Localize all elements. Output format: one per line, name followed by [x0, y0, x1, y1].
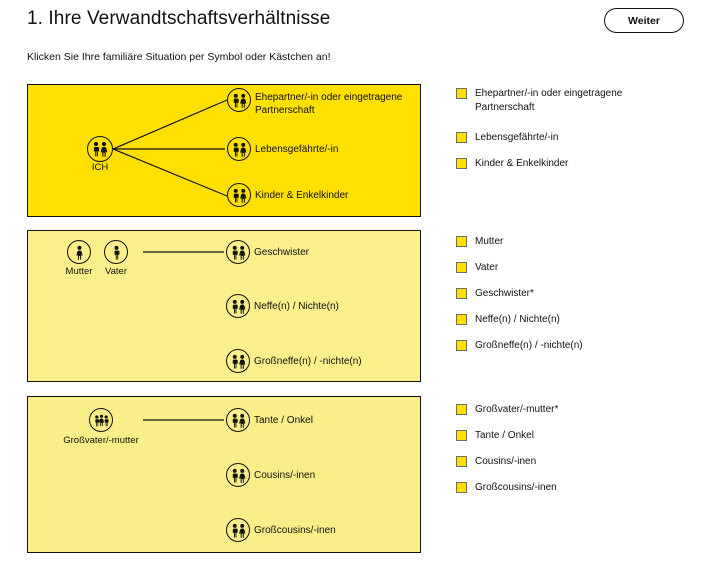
person-single-icon — [67, 240, 91, 264]
legend-item-grandparents[interactable]: Großvater/-mutter* — [456, 403, 558, 417]
checkbox-grandparents[interactable] — [456, 404, 467, 415]
legend-item-nephews[interactable]: Neffe(n) / Nichte(n) — [456, 313, 560, 327]
checkbox-grandcousins[interactable] — [456, 482, 467, 493]
person-pair-icon — [227, 183, 251, 207]
checkbox-mother[interactable] — [456, 236, 467, 247]
node-grandcousins-label: Großcousins/-inen — [254, 524, 336, 537]
checkbox-cousins[interactable] — [456, 456, 467, 467]
node-children[interactable] — [227, 183, 251, 207]
legend-item-spouse[interactable]: Ehepartner/-in oder eingetragene Partner… — [456, 87, 660, 115]
node-spouse[interactable] — [227, 88, 251, 112]
node-cousins-label: Cousins/-inen — [254, 469, 315, 482]
checkbox-aunt-uncle[interactable] — [456, 430, 467, 441]
person-pair-icon — [227, 88, 251, 112]
person-pair-icon — [226, 463, 250, 487]
legend-label-children: Kinder & Enkelkinder — [475, 157, 568, 171]
legend-item-aunt-uncle[interactable]: Tante / Onkel — [456, 429, 534, 443]
node-self-label: ICH — [92, 162, 108, 173]
legend-item-siblings[interactable]: Geschwister* — [456, 287, 534, 301]
node-grandparents[interactable]: Großvater/-mutter — [89, 408, 113, 432]
checkbox-partner[interactable] — [456, 132, 467, 143]
panel-grandparents — [27, 396, 421, 553]
person-pair-icon — [87, 136, 113, 162]
legend-label-aunt-uncle: Tante / Onkel — [475, 429, 534, 443]
checkbox-grandnephews[interactable] — [456, 340, 467, 351]
node-grandcousins[interactable] — [226, 518, 250, 542]
node-cousins[interactable] — [226, 463, 250, 487]
legend-label-siblings: Geschwister* — [475, 287, 534, 301]
legend-item-mother[interactable]: Mutter — [456, 235, 503, 249]
legend-label-mother: Mutter — [475, 235, 503, 249]
legend-item-children[interactable]: Kinder & Enkelkinder — [456, 157, 568, 171]
legend-label-partner: Lebensgefährte/-in — [475, 131, 558, 145]
node-children-label: Kinder & Enkelkinder — [255, 189, 348, 202]
legend-item-cousins[interactable]: Cousins/-inen — [456, 455, 536, 469]
next-button[interactable]: Weiter — [604, 8, 684, 33]
node-spouse-label: Ehepartner/-in oder eingetragene Partner… — [255, 91, 455, 117]
node-aunt-uncle[interactable] — [226, 408, 250, 432]
node-siblings[interactable] — [226, 240, 250, 264]
node-self[interactable]: ICH — [87, 136, 113, 162]
relationship-selection-page: 1. Ihre Verwandtschaftsverhältnisse Weit… — [0, 0, 711, 562]
legend-item-grandnephews[interactable]: Großneffe(n) / -nichte(n) — [456, 339, 583, 353]
node-mother[interactable]: Mutter — [67, 240, 91, 264]
checkbox-father[interactable] — [456, 262, 467, 273]
person-pair-icon — [226, 408, 250, 432]
person-pair-icon — [226, 518, 250, 542]
person-pair-icon — [226, 240, 250, 264]
page-title: 1. Ihre Verwandtschaftsverhältnisse — [27, 8, 330, 30]
person-pair-icon — [227, 137, 251, 161]
person-single-icon — [104, 240, 128, 264]
node-grandparents-label: Großvater/-mutter — [63, 435, 139, 446]
legend-label-cousins: Cousins/-inen — [475, 455, 536, 469]
checkbox-children[interactable] — [456, 158, 467, 169]
person-pair-icon — [226, 349, 250, 373]
legend-label-grandnephews: Großneffe(n) / -nichte(n) — [475, 339, 583, 353]
node-aunt-uncle-label: Tante / Onkel — [254, 414, 313, 427]
person-trio-icon — [89, 408, 113, 432]
legend-label-grandparents: Großvater/-mutter* — [475, 403, 558, 417]
node-partner[interactable] — [227, 137, 251, 161]
legend-label-father: Vater — [475, 261, 498, 275]
legend-item-grandcousins[interactable]: Großcousins/-inen — [456, 481, 557, 495]
node-grandnephews[interactable] — [226, 349, 250, 373]
legend-item-father[interactable]: Vater — [456, 261, 498, 275]
instruction-text: Klicken Sie Ihre familiäre Situation per… — [27, 51, 331, 63]
node-mother-label: Mutter — [66, 266, 93, 277]
node-nephews-label: Neffe(n) / Nichte(n) — [254, 300, 339, 313]
person-pair-icon — [226, 294, 250, 318]
checkbox-nephews[interactable] — [456, 314, 467, 325]
legend-item-partner[interactable]: Lebensgefährte/-in — [456, 131, 558, 145]
node-siblings-label: Geschwister — [254, 246, 309, 259]
node-partner-label: Lebensgefährte/-in — [255, 143, 338, 156]
node-father[interactable]: Vater — [104, 240, 128, 264]
legend-label-spouse: Ehepartner/-in oder eingetragene Partner… — [475, 87, 660, 115]
node-nephews[interactable] — [226, 294, 250, 318]
node-grandnephews-label: Großneffe(n) / -nichte(n) — [254, 355, 362, 368]
node-father-label: Vater — [105, 266, 127, 277]
checkbox-spouse[interactable] — [456, 88, 467, 99]
checkbox-siblings[interactable] — [456, 288, 467, 299]
legend-label-nephews: Neffe(n) / Nichte(n) — [475, 313, 560, 327]
legend-label-grandcousins: Großcousins/-inen — [475, 481, 557, 495]
